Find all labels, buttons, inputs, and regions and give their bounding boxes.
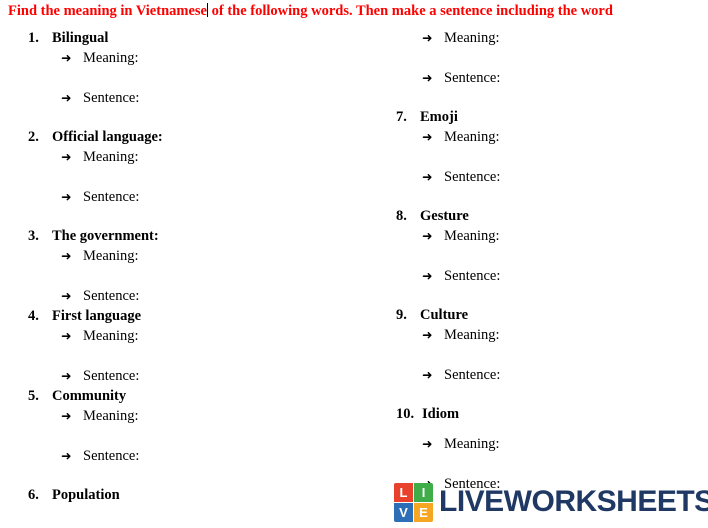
answer-space[interactable] [396, 385, 696, 404]
sentence-row: ➜ Sentence: [28, 446, 368, 466]
meaning-label: Meaning: [83, 147, 139, 167]
sentence-row: ➜ Sentence: [28, 286, 368, 306]
item-word: Population [52, 485, 120, 505]
item-heading: 10. Idiom [396, 404, 696, 424]
answer-space[interactable] [396, 345, 696, 365]
sentence-label: Sentence: [444, 266, 500, 286]
list-item-continuation: ➜ Meaning: ➜ Sentence: [396, 28, 696, 107]
item-word: Culture [420, 305, 468, 325]
meaning-row: ➜ Meaning: [396, 127, 696, 147]
item-heading: 4. First language [28, 306, 368, 326]
sentence-row: ➜ Sentence: [396, 68, 696, 88]
logo-letter-i: I [414, 483, 433, 502]
item-number: 5. [28, 386, 52, 406]
arrow-icon: ➜ [61, 406, 83, 426]
meaning-label: Meaning: [444, 127, 500, 147]
arrow-icon: ➜ [61, 88, 83, 108]
meaning-row: ➜ Meaning: [28, 326, 368, 346]
arrow-icon: ➜ [61, 147, 83, 167]
answer-space[interactable] [396, 286, 696, 305]
meaning-row: ➜ Meaning: [28, 406, 368, 426]
arrow-icon: ➜ [422, 434, 444, 454]
meaning-row: ➜ Meaning: [396, 325, 696, 345]
item-number: 2. [28, 127, 52, 147]
logo-wordmark: LIVEWORKSHEETS [439, 485, 708, 519]
answer-space[interactable] [396, 187, 696, 206]
arrow-icon: ➜ [422, 28, 444, 48]
item-number: 7. [396, 107, 420, 127]
item-heading: 9. Culture [396, 305, 696, 325]
meaning-label: Meaning: [83, 406, 139, 426]
meaning-label: Meaning: [444, 325, 500, 345]
answer-space[interactable] [28, 68, 368, 88]
list-item: 2. Official language: ➜ Meaning: ➜ Sente… [28, 127, 368, 226]
sentence-label: Sentence: [444, 68, 500, 88]
arrow-icon: ➜ [61, 286, 83, 306]
arrow-icon: ➜ [61, 366, 83, 386]
list-item: 9. Culture ➜ Meaning: ➜ Sentence: [396, 305, 696, 404]
item-number: 8. [396, 206, 420, 226]
meaning-row: ➜ Meaning: [28, 48, 368, 68]
sentence-label: Sentence: [444, 167, 500, 187]
title-text-after-caret: of the following words. Then make a sent… [208, 3, 613, 19]
sentence-label: Sentence: [83, 88, 139, 108]
arrow-icon: ➜ [61, 326, 83, 346]
meaning-row: ➜ Meaning: [396, 434, 696, 454]
arrow-icon: ➜ [61, 446, 83, 466]
list-item: 1. Bilingual ➜ Meaning: ➜ Sentence: [28, 28, 368, 127]
item-heading: 7. Emoji [396, 107, 696, 127]
meaning-label: Meaning: [83, 246, 139, 266]
item-word: Bilingual [52, 28, 108, 48]
answer-space[interactable] [396, 48, 696, 68]
arrow-icon: ➜ [61, 246, 83, 266]
logo-letter-v: V [394, 503, 413, 522]
item-word: Gesture [420, 206, 469, 226]
answer-space[interactable] [396, 88, 696, 107]
answer-space[interactable] [396, 246, 696, 266]
item-heading: 5. Community [28, 386, 368, 406]
meaning-row: ➜ Meaning: [396, 226, 696, 246]
arrow-icon: ➜ [61, 187, 83, 207]
arrow-icon: ➜ [422, 325, 444, 345]
meaning-label: Meaning: [444, 28, 500, 48]
arrow-icon: ➜ [422, 127, 444, 147]
item-heading: 3. The government: [28, 226, 368, 246]
sentence-row: ➜ Sentence: [28, 366, 368, 386]
item-word: Official language: [52, 127, 163, 147]
item-word: Community [52, 386, 126, 406]
list-item: 3. The government: ➜ Meaning: ➜ Sentence… [28, 226, 368, 306]
answer-space[interactable] [28, 466, 368, 485]
item-number: 4. [28, 306, 52, 326]
answer-space[interactable] [28, 108, 368, 127]
sentence-label: Sentence: [83, 446, 139, 466]
item-word: The government: [52, 226, 159, 246]
list-item: 8. Gesture ➜ Meaning: ➜ Sentence: [396, 206, 696, 305]
item-heading: 1. Bilingual [28, 28, 368, 48]
arrow-icon: ➜ [422, 365, 444, 385]
item-number: 9. [396, 305, 420, 325]
meaning-label: Meaning: [83, 48, 139, 68]
item-number: 6. [28, 485, 52, 505]
logo-letter-e: E [414, 503, 433, 522]
answer-space[interactable] [396, 147, 696, 167]
arrow-icon: ➜ [61, 48, 83, 68]
list-item: 7. Emoji ➜ Meaning: ➜ Sentence: [396, 107, 696, 206]
item-number: 10. [396, 404, 422, 424]
answer-space[interactable] [28, 167, 368, 187]
sentence-label: Sentence: [444, 365, 500, 385]
item-word: Emoji [420, 107, 458, 127]
sentence-label: Sentence: [83, 366, 139, 386]
right-column: ➜ Meaning: ➜ Sentence: 7. Emoji ➜ Meanin… [396, 28, 696, 494]
arrow-icon: ➜ [422, 226, 444, 246]
sentence-row: ➜ Sentence: [396, 167, 696, 187]
answer-space[interactable] [28, 426, 368, 446]
item-heading: 2. Official language: [28, 127, 368, 147]
answer-space[interactable] [28, 346, 368, 366]
item-heading: 6. Population [28, 485, 368, 505]
answer-space[interactable] [28, 266, 368, 286]
logo-mark-icon: L I V E [394, 483, 433, 522]
list-item: 5. Community ➜ Meaning: ➜ Sentence: [28, 386, 368, 485]
sentence-row: ➜ Sentence: [396, 266, 696, 286]
liveworksheets-logo[interactable]: L I V E LIVEWORKSHEETS [394, 481, 708, 523]
answer-space[interactable] [396, 454, 696, 474]
sentence-row: ➜ Sentence: [28, 187, 368, 207]
item-word: First language [52, 306, 141, 326]
item-number: 1. [28, 28, 52, 48]
sentence-row: ➜ Sentence: [28, 88, 368, 108]
item-heading: 8. Gesture [396, 206, 696, 226]
sentence-row: ➜ Sentence: [396, 365, 696, 385]
meaning-label: Meaning: [83, 326, 139, 346]
sentence-label: Sentence: [83, 286, 139, 306]
item-word: Idiom [422, 404, 459, 424]
left-column: 1. Bilingual ➜ Meaning: ➜ Sentence: 2. O… [28, 28, 368, 505]
list-item: 6. Population [28, 485, 368, 505]
meaning-row: ➜ Meaning: [28, 147, 368, 167]
arrow-icon: ➜ [422, 68, 444, 88]
answer-space[interactable] [28, 207, 368, 226]
list-item: 4. First language ➜ Meaning: ➜ Sentence: [28, 306, 368, 386]
arrow-icon: ➜ [422, 266, 444, 286]
sentence-label: Sentence: [83, 187, 139, 207]
meaning-row: ➜ Meaning: [396, 28, 696, 48]
arrow-icon: ➜ [422, 167, 444, 187]
title-text-before-caret: Find the meaning in Vietnamese [8, 3, 207, 19]
meaning-row: ➜ Meaning: [28, 246, 368, 266]
page-title: Find the meaning in Vietnamese of the fo… [8, 3, 698, 20]
item-number: 3. [28, 226, 52, 246]
meaning-label: Meaning: [444, 434, 500, 454]
meaning-label: Meaning: [444, 226, 500, 246]
answer-space[interactable] [396, 424, 696, 434]
worksheet-page: Find the meaning in Vietnamese of the fo… [0, 0, 708, 528]
logo-letter-l: L [394, 483, 413, 502]
